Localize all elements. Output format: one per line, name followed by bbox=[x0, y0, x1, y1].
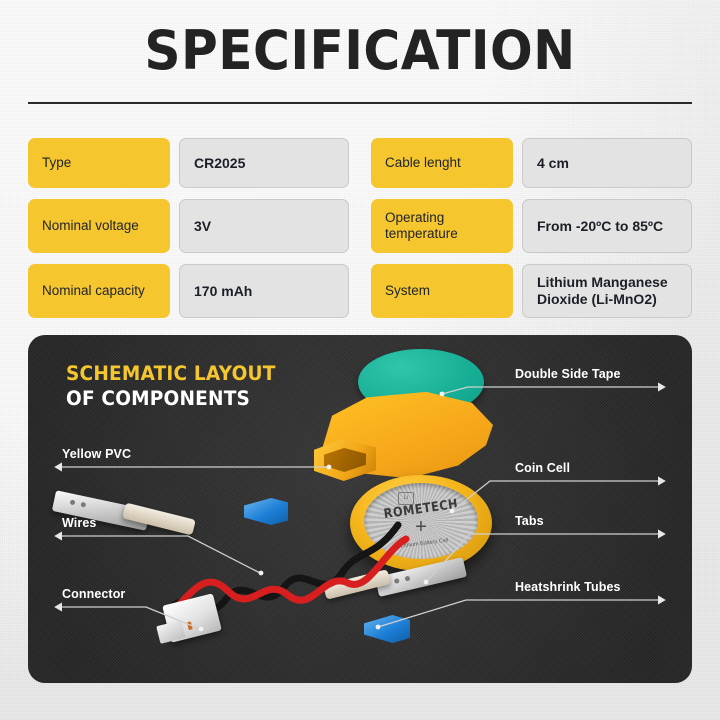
title-divider bbox=[28, 102, 692, 104]
spec-value-cable-length: 4 cm bbox=[522, 138, 692, 188]
spec-key-nominal-capacity: Nominal capacity bbox=[28, 264, 170, 318]
callout-label-double-side-tape: Double Side Tape bbox=[515, 367, 621, 381]
spec-key-operating-temperature: Operating temperature bbox=[371, 199, 513, 253]
specification-table: Type CR2025 Cable lenght 4 cm Nominal vo… bbox=[28, 138, 692, 318]
spec-value-system: Lithium Manganese Dioxide (Li-MnO2) bbox=[522, 264, 692, 318]
spec-row-nominal-capacity: Nominal capacity 170 mAh bbox=[28, 264, 349, 318]
callout-label-wires: Wires bbox=[62, 516, 96, 530]
spec-value-nominal-voltage: 3V bbox=[179, 199, 349, 253]
spec-key-nominal-voltage: Nominal voltage bbox=[28, 199, 170, 253]
spec-value-nominal-capacity: 170 mAh bbox=[179, 264, 349, 318]
spec-value-operating-temperature: From -20ºC to 85ºC bbox=[522, 199, 692, 253]
schematic-title-line2: OF COMPONENTS bbox=[66, 386, 276, 411]
spec-key-system: System bbox=[371, 264, 513, 318]
callout-label-coin-cell: Coin Cell bbox=[515, 461, 570, 475]
schematic-title-line1: SCHEMATIC LAYOUT bbox=[66, 361, 276, 386]
callout-label-connector: Connector bbox=[62, 587, 125, 601]
callout-label-tabs: Tabs bbox=[515, 514, 544, 528]
spec-row-operating-temperature: Operating temperature From -20ºC to 85ºC bbox=[371, 199, 692, 253]
schematic-panel-title: SCHEMATIC LAYOUT OF COMPONENTS bbox=[66, 361, 276, 411]
spec-row-cable-length: Cable lenght 4 cm bbox=[371, 138, 692, 188]
page-title: SPECIFICATION bbox=[25, 22, 695, 80]
spec-key-cable-length: Cable lenght bbox=[371, 138, 513, 188]
callout-label-yellow-pvc: Yellow PVC bbox=[62, 447, 131, 461]
callout-label-heatshrink-tubes: Heatshrink Tubes bbox=[515, 580, 621, 594]
spec-key-type: Type bbox=[28, 138, 170, 188]
spec-row-system: System Lithium Manganese Dioxide (Li-MnO… bbox=[371, 264, 692, 318]
spec-row-nominal-voltage: Nominal voltage 3V bbox=[28, 199, 349, 253]
spec-row-type: Type CR2025 bbox=[28, 138, 349, 188]
spec-value-type: CR2025 bbox=[179, 138, 349, 188]
schematic-panel: SCHEMATIC LAYOUT OF COMPONENTS Li ROMETE… bbox=[28, 335, 692, 683]
